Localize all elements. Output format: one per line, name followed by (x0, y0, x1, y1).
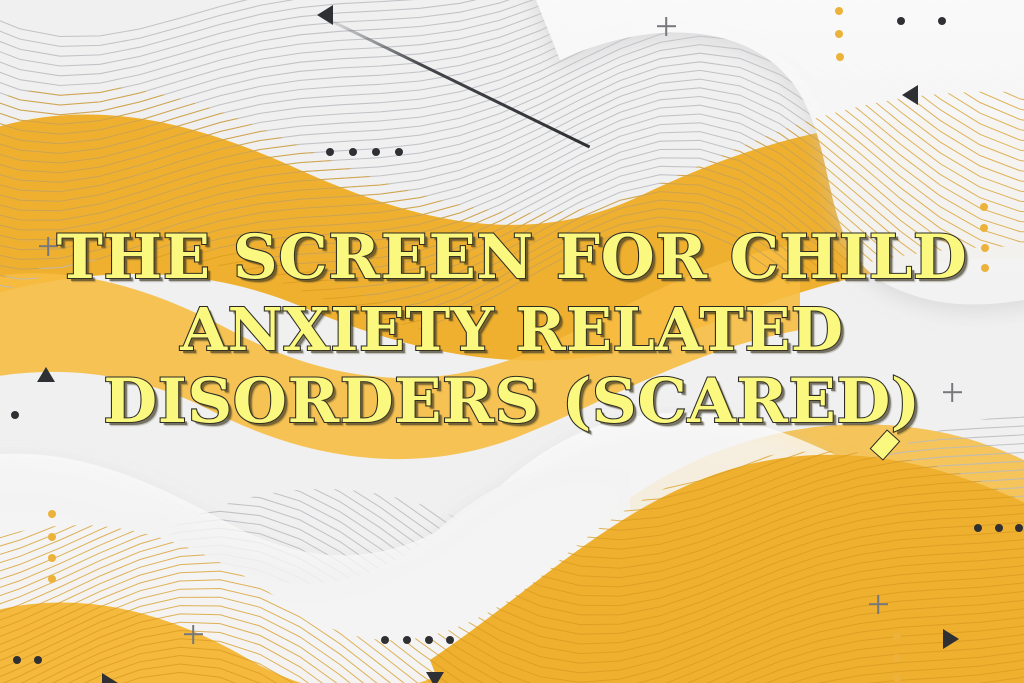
background-wave-art (0, 0, 1024, 683)
poster-canvas: THE SCREEN FOR CHILD ANXIETY RELATED DIS… (0, 0, 1024, 683)
